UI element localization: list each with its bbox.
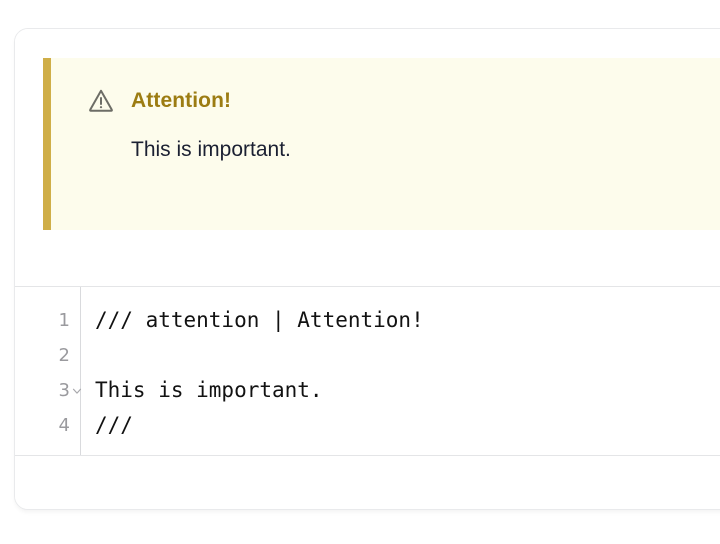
code-line[interactable] bbox=[95, 338, 720, 373]
code-line[interactable]: This is important. bbox=[95, 373, 720, 408]
gutter-row: 2 bbox=[15, 338, 80, 373]
line-number-gutter: 1 2 3 4 bbox=[15, 287, 81, 455]
code-editor-pane[interactable]: 1 2 3 4 /// a bbox=[15, 287, 720, 456]
line-number: 4 bbox=[59, 417, 70, 435]
line-number: 2 bbox=[59, 347, 70, 365]
code-line[interactable]: /// attention | Attention! bbox=[95, 303, 720, 338]
card-footer-strip bbox=[15, 457, 720, 510]
gutter-row: 4 bbox=[15, 408, 80, 443]
callout-body-text: This is important. bbox=[131, 136, 720, 164]
gutter-row: 1 bbox=[15, 303, 80, 338]
code-text-area[interactable]: /// attention | Attention! This is impor… bbox=[81, 287, 720, 455]
line-number: 1 bbox=[59, 312, 70, 330]
callout-body: Attention! This is important. bbox=[51, 58, 720, 230]
code-editor-inner: 1 2 3 4 /// a bbox=[15, 287, 720, 455]
gutter-row: 3 bbox=[15, 373, 80, 408]
preview-pane: Attention! This is important. bbox=[15, 29, 720, 287]
callout-title-row: Attention! bbox=[87, 86, 720, 116]
callout-playground-card: Attention! This is important. 1 2 bbox=[14, 28, 720, 510]
code-line[interactable]: /// bbox=[95, 408, 720, 443]
callout-accent-bar bbox=[43, 58, 51, 230]
screen-root: Attention! This is important. 1 2 bbox=[0, 0, 720, 544]
callout-title: Attention! bbox=[131, 87, 231, 115]
warning-triangle-icon bbox=[87, 87, 115, 115]
line-number: 3 bbox=[59, 382, 70, 400]
attention-callout: Attention! This is important. bbox=[43, 58, 720, 230]
